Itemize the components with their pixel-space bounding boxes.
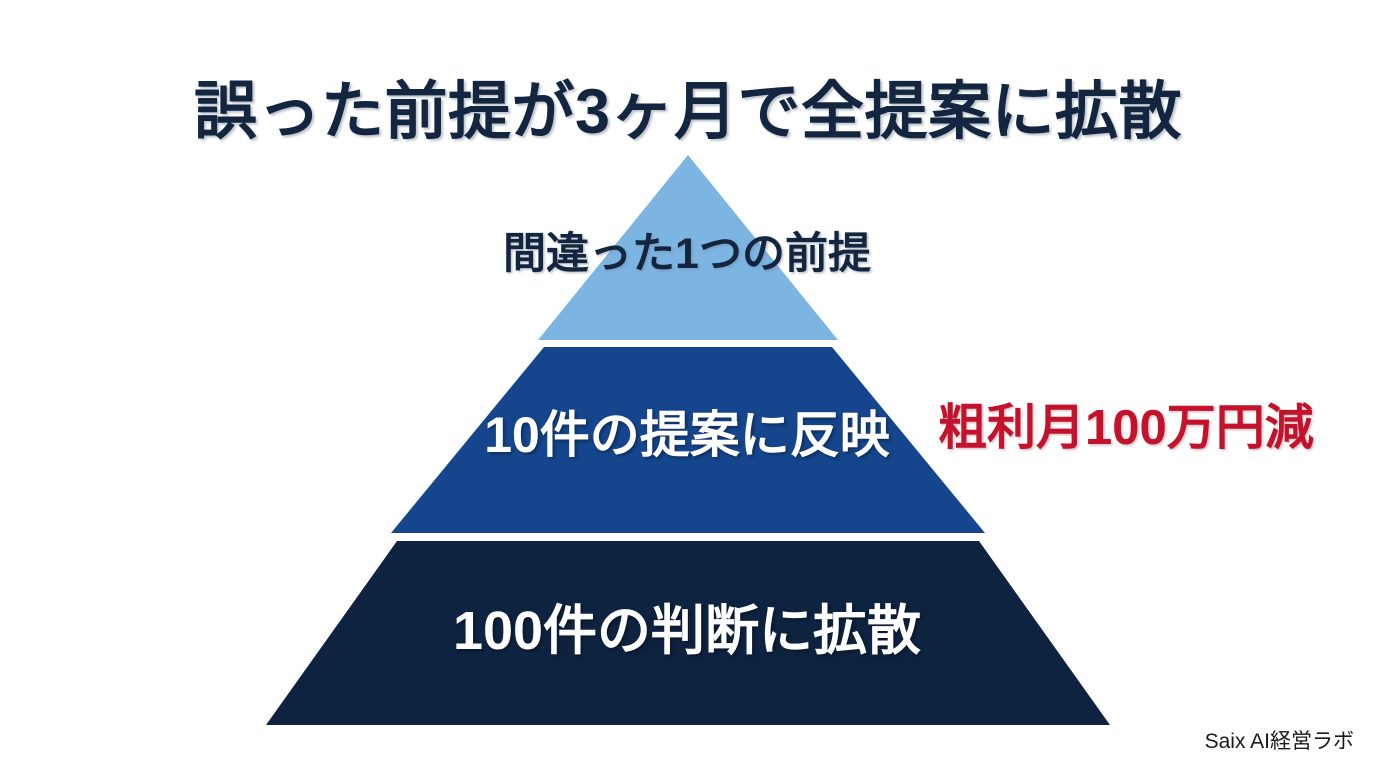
slide-canvas: 誤った前提が3ヶ月で全提案に拡散 間違った1つの前提 10件の提案に反映 100… xyxy=(0,0,1376,768)
profit-impact-callout: 粗利月100万円減 xyxy=(938,404,1314,453)
pyramid-tier-bottom-label: 100件の判断に拡散 xyxy=(0,604,1375,658)
error-propagation-pyramid: 間違った1つの前提 10件の提案に反映 100件の判断に拡散 xyxy=(0,0,1376,768)
pyramid-tier-top-label: 間違った1つの前提 xyxy=(0,233,1375,276)
footer-credit: Saix AI経営ラボ xyxy=(1205,731,1354,752)
